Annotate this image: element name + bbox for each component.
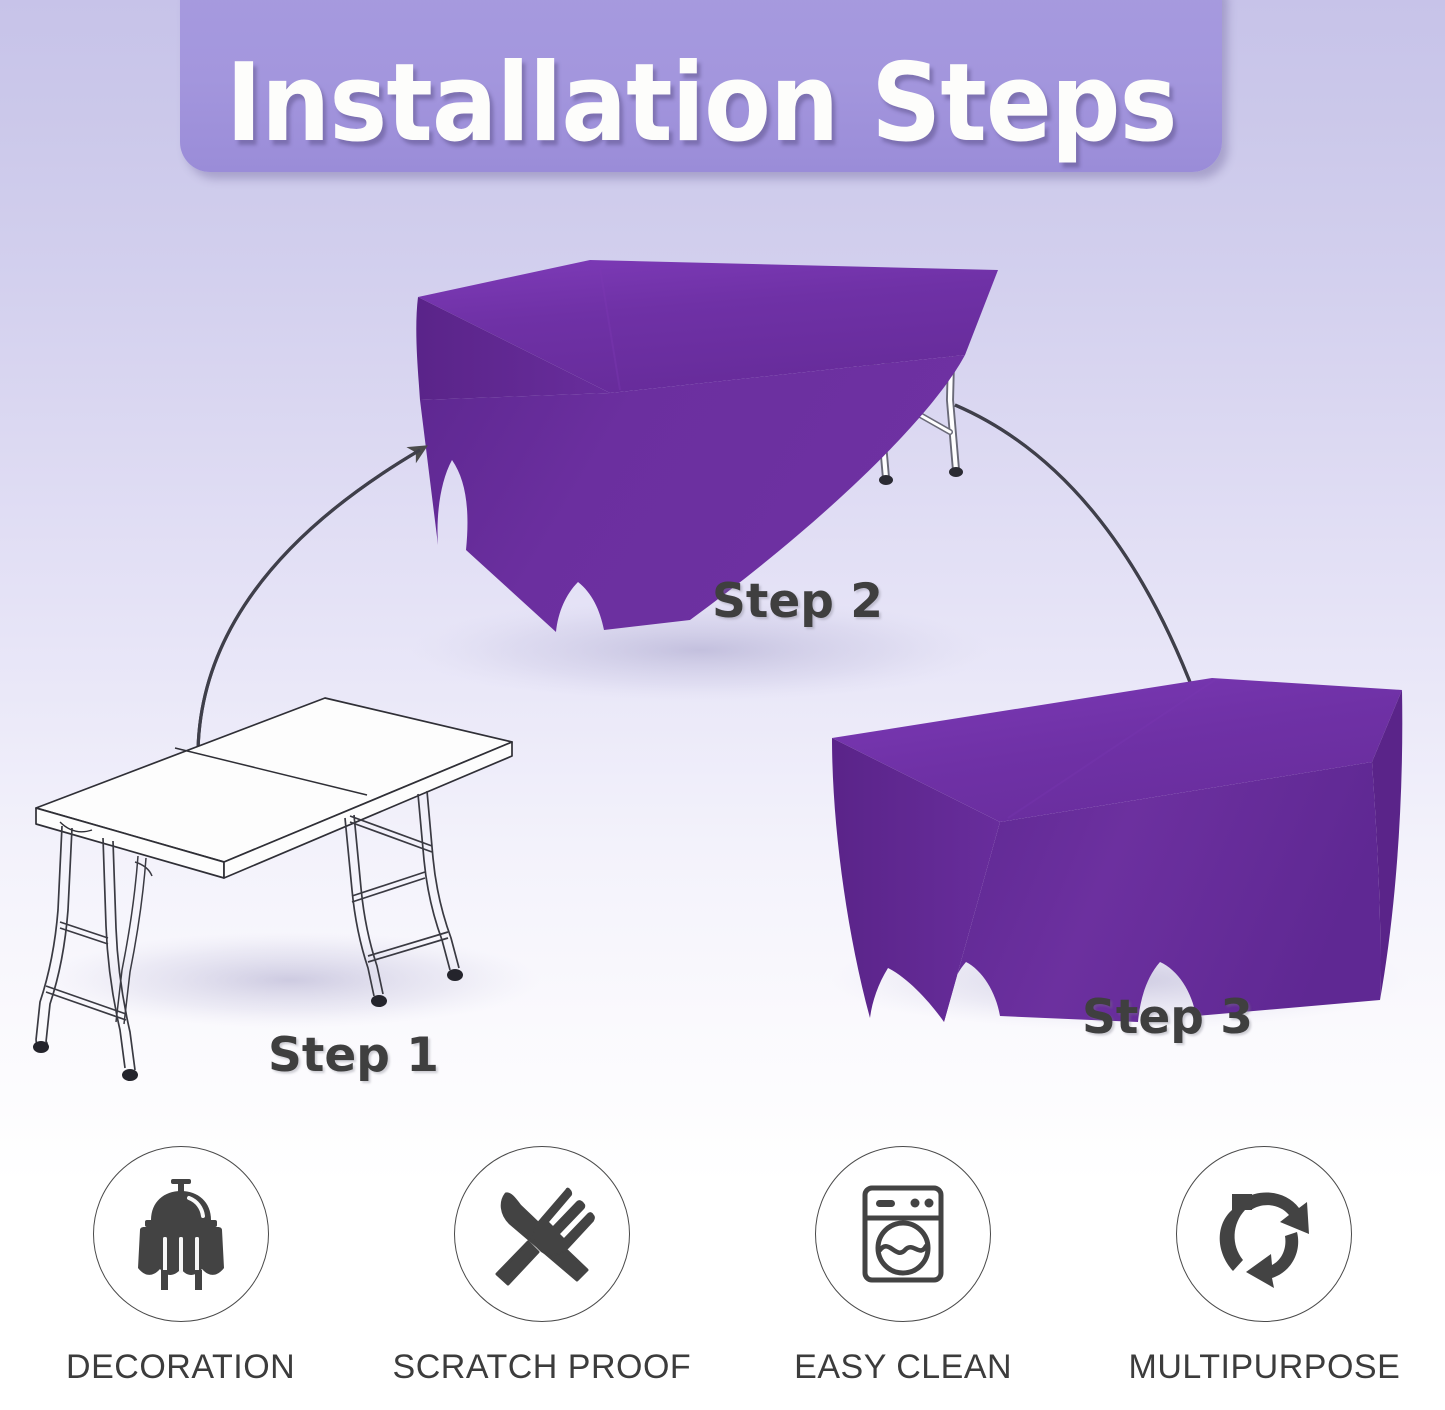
step2-foot-left bbox=[879, 475, 893, 485]
feature-easy-clean-circle bbox=[815, 1146, 991, 1322]
step1-foot-a bbox=[33, 1041, 49, 1053]
feature-decoration-circle bbox=[93, 1146, 269, 1322]
feature-easy-clean-label: EASY CLEAN bbox=[794, 1348, 1012, 1387]
covered-dish-table-icon bbox=[123, 1176, 239, 1292]
feature-decoration: DECORATION bbox=[0, 1146, 361, 1410]
title-banner: Installation Steps bbox=[180, 0, 1222, 172]
step-3-label: Step 3 bbox=[1082, 990, 1253, 1045]
step1-foot-c bbox=[371, 995, 387, 1007]
step-1-label: Step 1 bbox=[268, 1028, 439, 1083]
step1-foot-b bbox=[122, 1069, 138, 1081]
feature-easy-clean: EASY CLEAN bbox=[723, 1146, 1084, 1410]
step1-foot-d bbox=[447, 969, 463, 981]
infographic-page: Installation Steps bbox=[0, 0, 1445, 1410]
knife-fork-icon bbox=[484, 1176, 600, 1292]
feature-scratch-proof: SCRATCH PROOF bbox=[361, 1146, 722, 1410]
feature-multipurpose: MULTIPURPOSE bbox=[1084, 1146, 1445, 1410]
recycle-arrows-icon bbox=[1206, 1176, 1322, 1292]
step2-foot-right bbox=[949, 467, 963, 477]
page-title: Installation Steps bbox=[226, 50, 1177, 158]
feature-multipurpose-label: MULTIPURPOSE bbox=[1129, 1348, 1401, 1387]
feature-decoration-label: DECORATION bbox=[66, 1348, 295, 1387]
step-2-table-illustration bbox=[416, 260, 998, 632]
shadow-step2 bbox=[410, 598, 990, 702]
step-3-table-illustration bbox=[832, 678, 1402, 1022]
feature-multipurpose-circle bbox=[1176, 1146, 1352, 1322]
arrow-step2-to-step3 bbox=[955, 405, 1195, 695]
washing-machine-icon bbox=[845, 1176, 961, 1292]
feature-scratch-proof-label: SCRATCH PROOF bbox=[393, 1348, 692, 1387]
step-2-label: Step 2 bbox=[712, 574, 883, 629]
feature-strip: DECORATION SCRATCH PROOF bbox=[0, 1146, 1445, 1410]
feature-scratch-proof-circle bbox=[454, 1146, 630, 1322]
shadow-step1 bbox=[40, 932, 540, 1028]
